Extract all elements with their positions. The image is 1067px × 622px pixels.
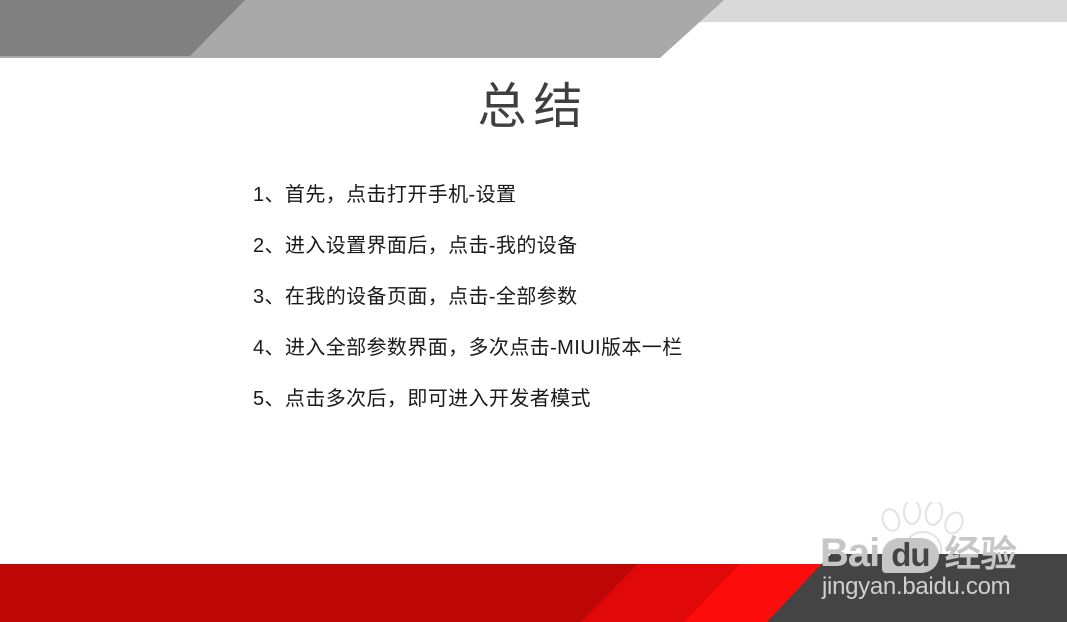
baidu-logo-jingyan: 经验: [945, 533, 1017, 574]
list-item: 1、首先，点击打开手机-设置: [253, 170, 953, 221]
list-item: 5、点击多次后，即可进入开发者模式: [253, 374, 953, 425]
presentation-slide: 总结 1、首先，点击打开手机-设置 2、进入设置界面后，点击-我的设备 3、在我…: [0, 0, 1067, 622]
page-title: 总结: [0, 78, 1067, 137]
baidu-logo-bai: Bai: [820, 531, 879, 575]
list-item: 3、在我的设备页面，点击-全部参数: [253, 272, 953, 323]
watermark-url: jingyan.baidu.com: [822, 573, 1010, 601]
list-item: 2、进入设置界面后，点击-我的设备: [253, 221, 953, 272]
baidu-logo: Baidu经验: [820, 533, 1017, 573]
steps-list: 1、首先，点击打开手机-设置 2、进入设置界面后，点击-我的设备 3、在我的设备…: [253, 170, 953, 425]
baidu-logo-du: du: [882, 538, 938, 573]
list-item: 4、进入全部参数界面，多次点击-MIUI版本一栏: [253, 323, 953, 374]
